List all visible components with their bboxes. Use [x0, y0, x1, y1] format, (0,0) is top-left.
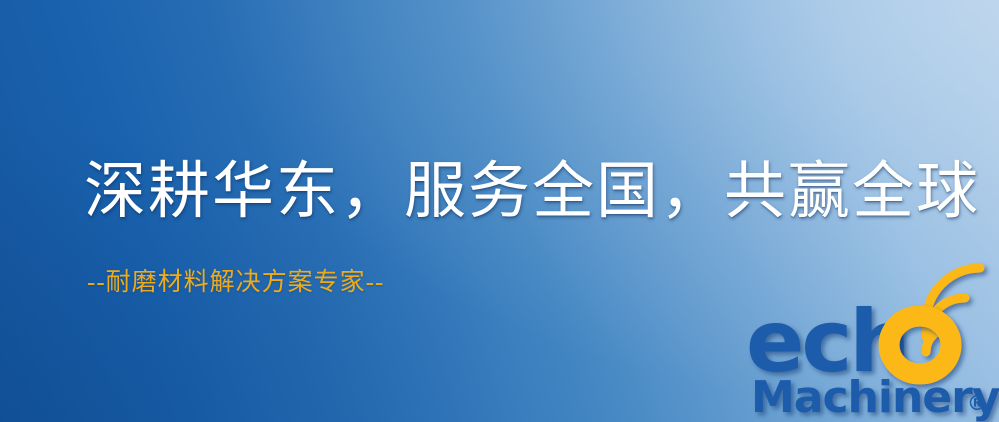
logo-wordmark-o	[889, 316, 951, 374]
echo-machinery-logo[interactable]: ech Machinery ®	[742, 292, 999, 422]
page-headline: 深耕华东，服务全国，共赢全球	[84, 155, 980, 229]
page-subtitle: --耐磨材料解决方案专家--	[87, 268, 384, 298]
logo-registered-mark: ®	[967, 391, 987, 415]
hero-banner: 深耕华东，服务全国，共赢全球 --耐磨材料解决方案专家-- ech	[0, 0, 999, 422]
logo-tagline: Machinery	[751, 372, 999, 422]
